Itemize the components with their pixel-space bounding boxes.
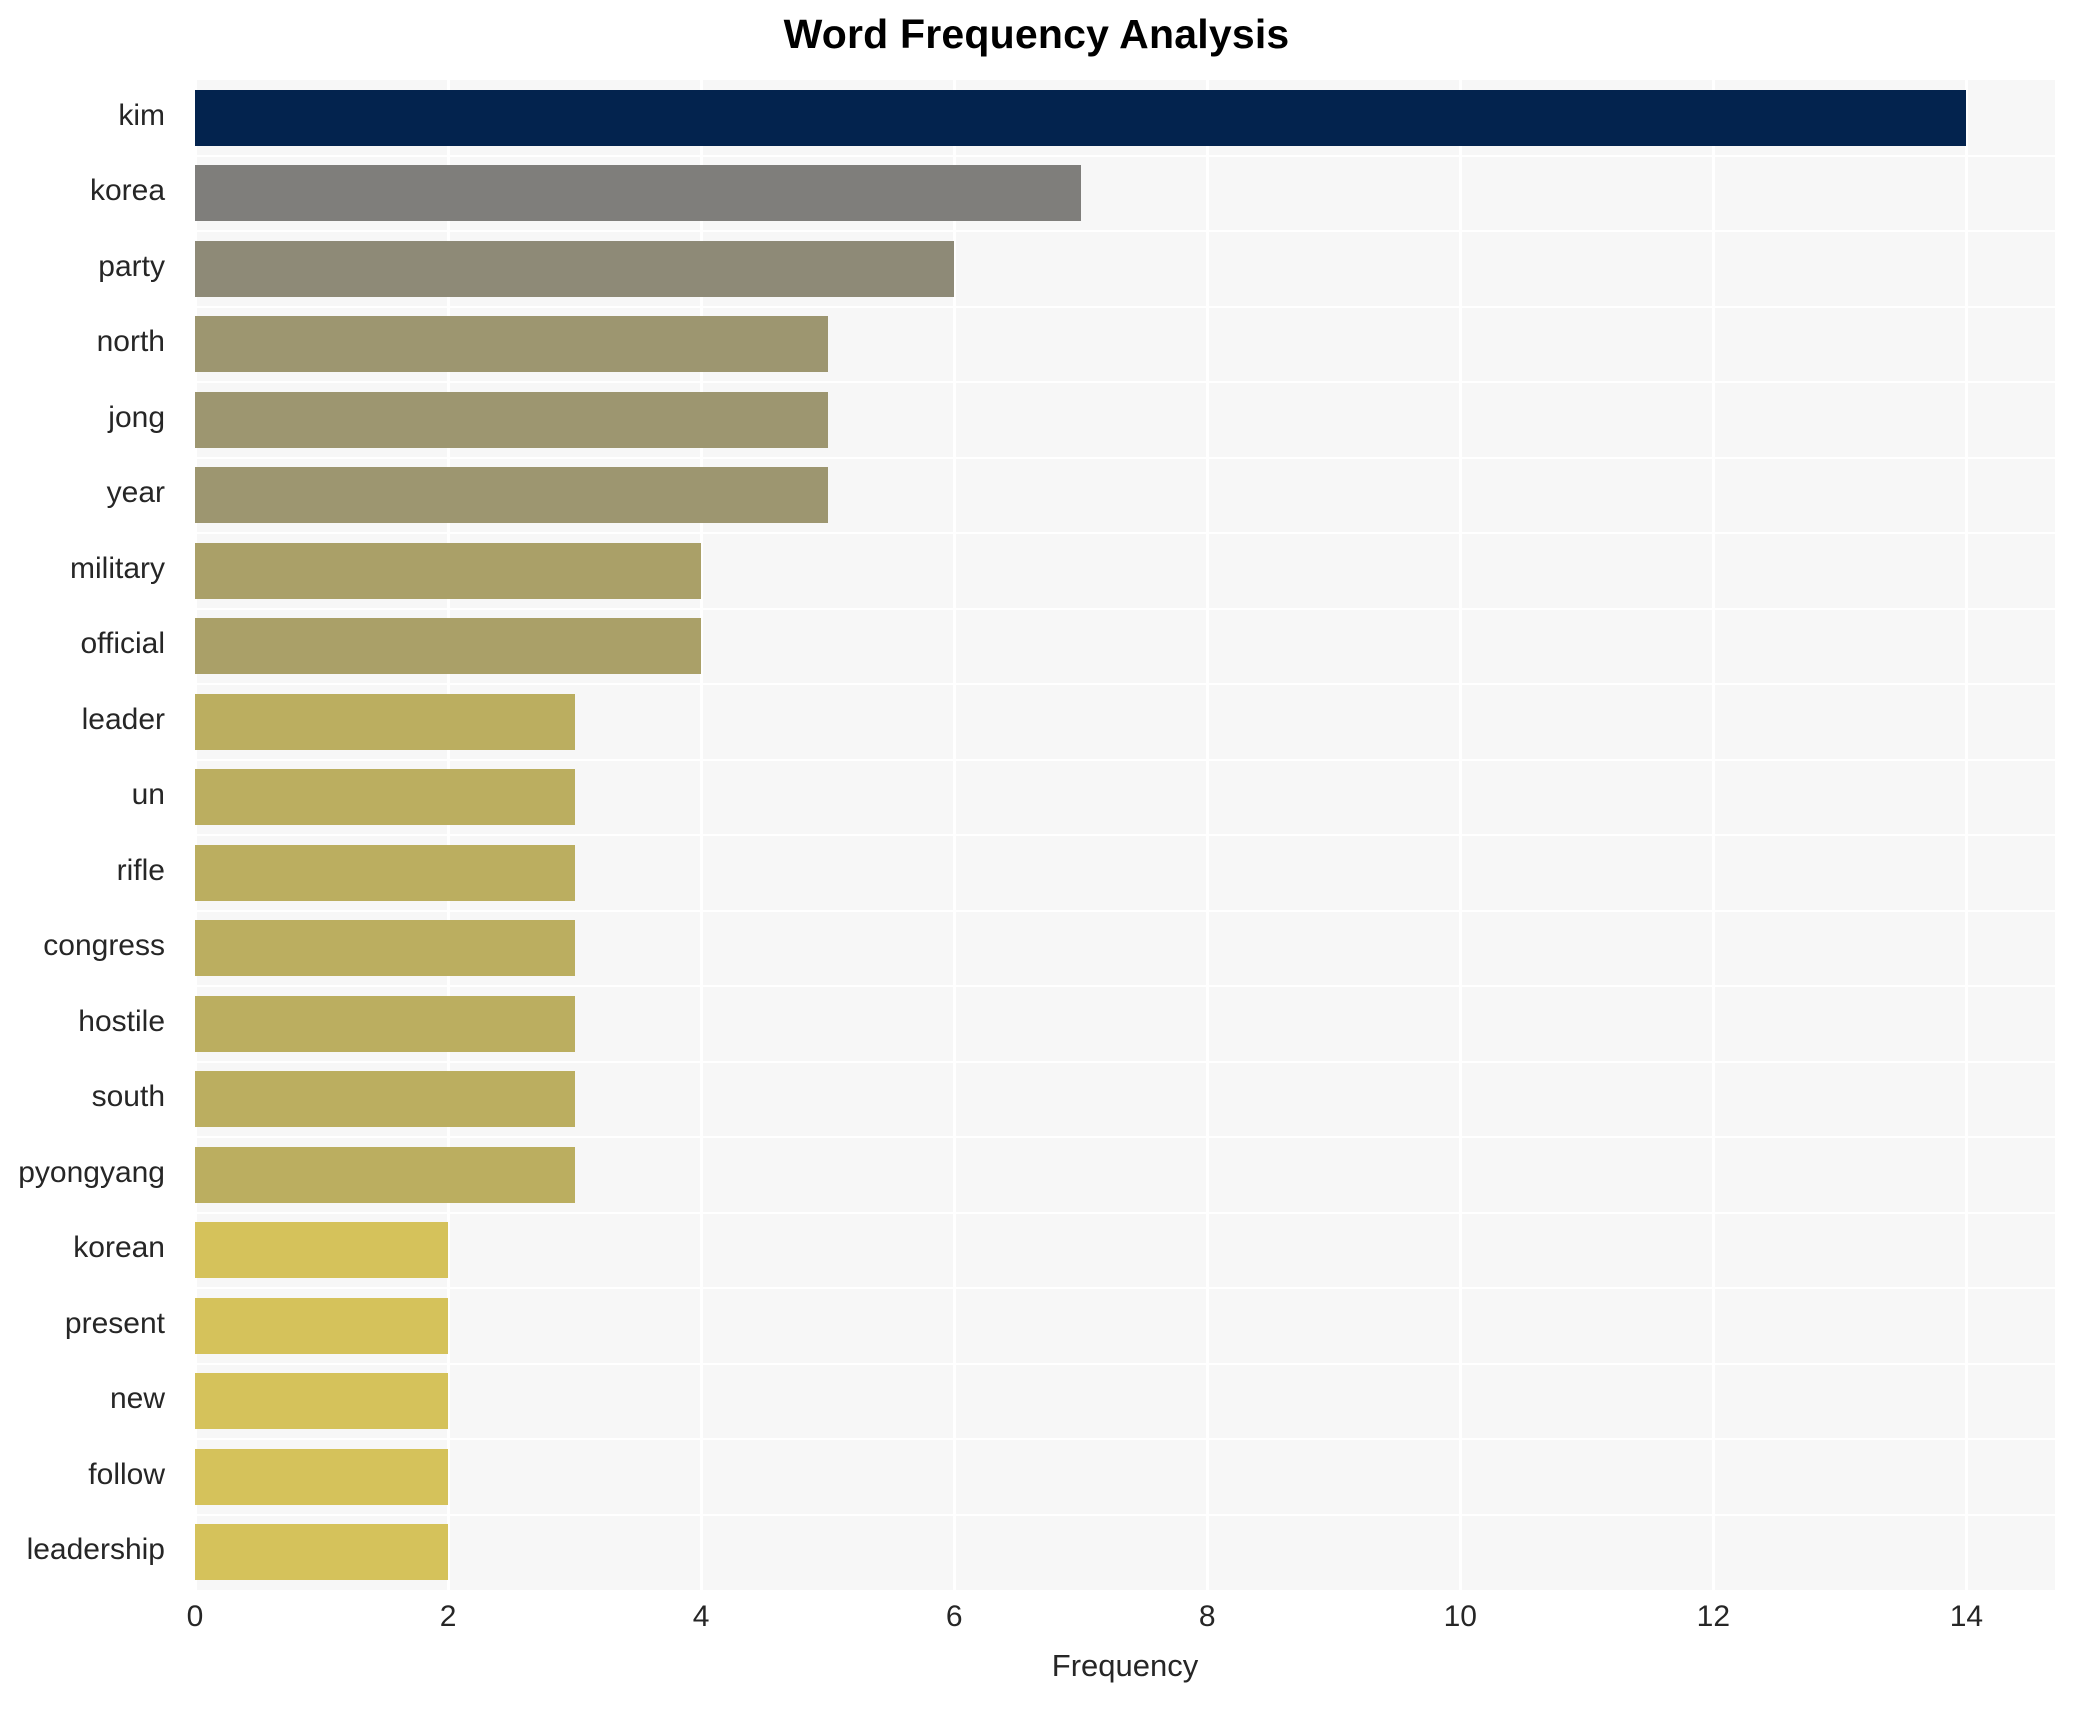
bar-official [195, 618, 701, 674]
y-tick-label-leader: leader [0, 703, 180, 737]
bar-row [195, 618, 2055, 674]
y-tick-label-pyongyang: pyongyang [0, 1156, 180, 1190]
bar-hostile [195, 996, 575, 1052]
band-separator [195, 306, 2055, 308]
x-axis-title: Frequency [195, 1648, 2055, 1684]
y-tick-label-congress: congress [0, 929, 180, 963]
bar-leader [195, 694, 575, 750]
band-separator [195, 230, 2055, 232]
y-tick-label-north: north [0, 325, 180, 359]
x-tick-label-2: 2 [388, 1600, 508, 1634]
x-tick-label-6: 6 [894, 1600, 1014, 1634]
plot-area [195, 80, 2055, 1590]
band-separator [195, 1438, 2055, 1440]
band-separator [195, 1061, 2055, 1063]
band-separator [195, 759, 2055, 761]
bar-row [195, 1147, 2055, 1203]
band-separator [195, 1363, 2055, 1365]
bar-row [195, 920, 2055, 976]
y-tick-label-kim: kim [0, 99, 180, 133]
bar-party [195, 241, 954, 297]
y-tick-label-hostile: hostile [0, 1005, 180, 1039]
bar-row [195, 1449, 2055, 1505]
bar-row [195, 996, 2055, 1052]
x-tick-label-14: 14 [1906, 1600, 2026, 1634]
y-tick-label-official: official [0, 627, 180, 661]
y-tick-label-follow: follow [0, 1458, 180, 1492]
x-tick-label-10: 10 [1400, 1600, 1520, 1634]
x-axis-tick-labels: 02468101214 [0, 1600, 2073, 1650]
bar-row [195, 543, 2055, 599]
bar-north [195, 316, 828, 372]
bar-year [195, 467, 828, 523]
bar-present [195, 1298, 448, 1354]
band-separator [195, 985, 2055, 987]
bar-row [195, 165, 2055, 221]
y-axis-tick-labels: kimkoreapartynorthjongyearmilitaryoffici… [0, 80, 180, 1590]
y-tick-label-korea: korea [0, 174, 180, 208]
bar-leadership [195, 1524, 448, 1580]
page-title: Word Frequency Analysis [0, 8, 2073, 60]
band-separator [195, 910, 2055, 912]
y-tick-label-south: south [0, 1080, 180, 1114]
bar-military [195, 543, 701, 599]
band-separator [195, 532, 2055, 534]
y-tick-label-korean: korean [0, 1231, 180, 1265]
y-tick-label-leadership: leadership [0, 1533, 180, 1567]
bar-row [195, 1222, 2055, 1278]
band-separator [195, 1514, 2055, 1516]
bar-kim [195, 90, 1966, 146]
bar-jong [195, 392, 828, 448]
bar-row [195, 467, 2055, 523]
y-tick-label-year: year [0, 476, 180, 510]
y-tick-label-jong: jong [0, 401, 180, 435]
y-tick-label-present: present [0, 1307, 180, 1341]
bar-korean [195, 1222, 448, 1278]
bar-row [195, 1071, 2055, 1127]
bar-un [195, 769, 575, 825]
bar-korea [195, 165, 1081, 221]
bar-row [195, 392, 2055, 448]
band-separator [195, 155, 2055, 157]
bar-row [195, 1298, 2055, 1354]
band-separator [195, 457, 2055, 459]
bar-rifle [195, 845, 575, 901]
word-frequency-chart: Word Frequency Analysis kimkoreapartynor… [0, 0, 2073, 1710]
band-separator [195, 381, 2055, 383]
x-tick-label-0: 0 [135, 1600, 255, 1634]
x-tick-label-8: 8 [1147, 1600, 1267, 1634]
y-tick-label-new: new [0, 1382, 180, 1416]
y-tick-label-un: un [0, 778, 180, 812]
bar-follow [195, 1449, 448, 1505]
x-tick-label-12: 12 [1653, 1600, 1773, 1634]
bar-row [195, 769, 2055, 825]
y-tick-label-military: military [0, 552, 180, 586]
band-separator [195, 608, 2055, 610]
bar-row [195, 90, 2055, 146]
bar-south [195, 1071, 575, 1127]
bar-row [195, 241, 2055, 297]
y-tick-label-rifle: rifle [0, 854, 180, 888]
bar-row [195, 316, 2055, 372]
y-tick-label-party: party [0, 250, 180, 284]
x-tick-label-4: 4 [641, 1600, 761, 1634]
band-separator [195, 1212, 2055, 1214]
bar-row [195, 1524, 2055, 1580]
bar-congress [195, 920, 575, 976]
bar-pyongyang [195, 1147, 575, 1203]
bar-row [195, 1373, 2055, 1429]
band-separator [195, 1287, 2055, 1289]
band-separator [195, 834, 2055, 836]
bar-row [195, 694, 2055, 750]
bar-row [195, 845, 2055, 901]
band-separator [195, 1136, 2055, 1138]
band-separator [195, 683, 2055, 685]
bar-new [195, 1373, 448, 1429]
